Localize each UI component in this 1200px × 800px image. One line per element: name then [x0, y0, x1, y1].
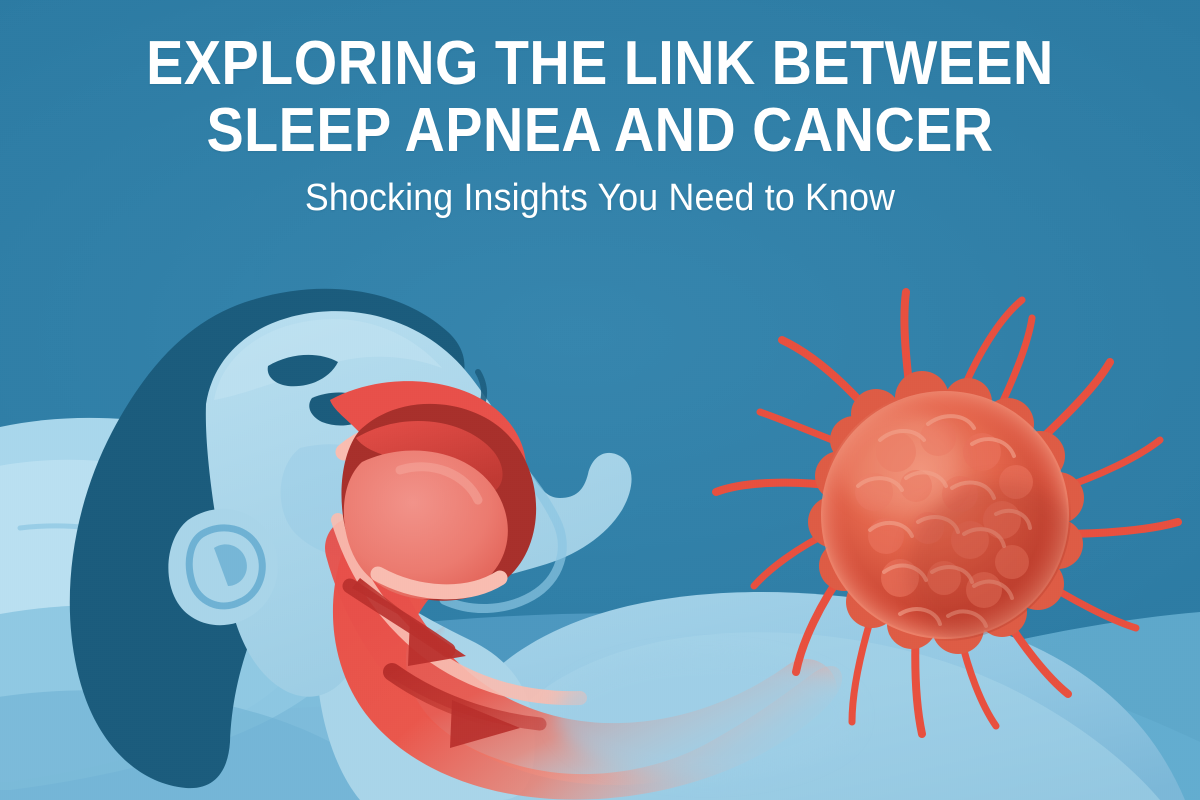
infographic-poster: EXPLORING THE LINK BETWEEN SLEEP APNEA A… [0, 0, 1200, 800]
background-grain-overlay [0, 0, 1200, 800]
